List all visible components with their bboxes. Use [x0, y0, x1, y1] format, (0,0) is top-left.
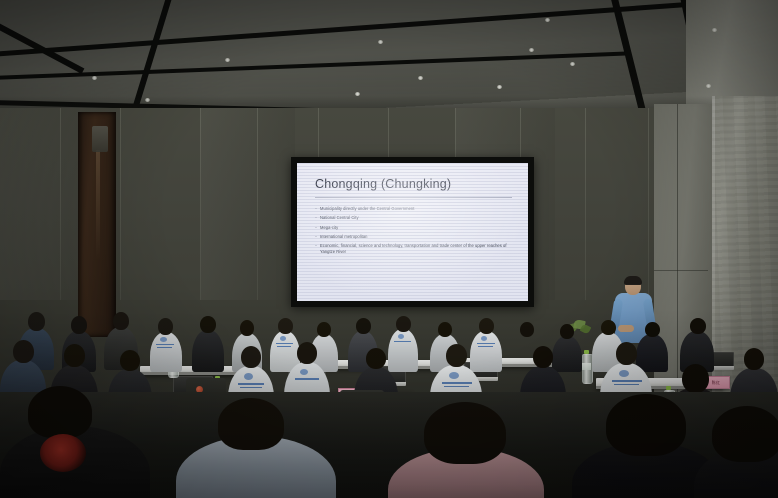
- downlight-icon: [545, 18, 550, 22]
- audience-member: [150, 318, 182, 372]
- glasses-icon: [626, 284, 640, 288]
- downlight-icon: [378, 40, 383, 44]
- downlight-icon: [225, 58, 230, 62]
- shirt-yinyang-icon: [40, 434, 86, 472]
- lecture-hall-photo: Chongqing (Chungking) Municipality direc…: [0, 0, 778, 498]
- downlight-icon: [712, 28, 717, 32]
- foreground-audience-member: [694, 420, 778, 498]
- downlight-icon: [706, 84, 711, 88]
- door-highlight: [96, 150, 100, 260]
- slide-bullet: International metropolitan: [315, 234, 512, 240]
- slide-bullet: Municipality directly under the Central …: [315, 206, 512, 212]
- slide-title-rule: [315, 197, 512, 198]
- slide-bullet: Economic, financial, science and technol…: [315, 243, 512, 255]
- slide-bullet: Mega-city: [315, 225, 512, 231]
- foreground-audience-member: [0, 400, 150, 498]
- downlight-icon: [529, 48, 534, 52]
- slide-title: Chongqing (Chungking): [315, 177, 512, 191]
- slide-bullet-list: Municipality directly under the Central …: [315, 206, 512, 255]
- foreground-audience-member: [176, 408, 336, 498]
- wall-speaker-icon: [92, 126, 108, 152]
- downlight-icon: [497, 85, 502, 89]
- audience-member: [192, 316, 224, 372]
- downlight-icon: [570, 62, 575, 66]
- wall-seam: [654, 270, 708, 271]
- downlight-icon: [418, 76, 423, 80]
- projection-surface: Chongqing (Chungking) Municipality direc…: [297, 163, 528, 301]
- presentation-slide: Chongqing (Chungking) Municipality direc…: [297, 163, 528, 301]
- foreground-audience-member: [388, 418, 544, 498]
- slide-bullet: National Central City: [315, 215, 512, 221]
- downlight-icon: [92, 76, 97, 80]
- wall-seam: [677, 104, 678, 394]
- projection-screen: Chongqing (Chungking) Municipality direc…: [291, 157, 534, 307]
- water-bottle: [582, 354, 591, 384]
